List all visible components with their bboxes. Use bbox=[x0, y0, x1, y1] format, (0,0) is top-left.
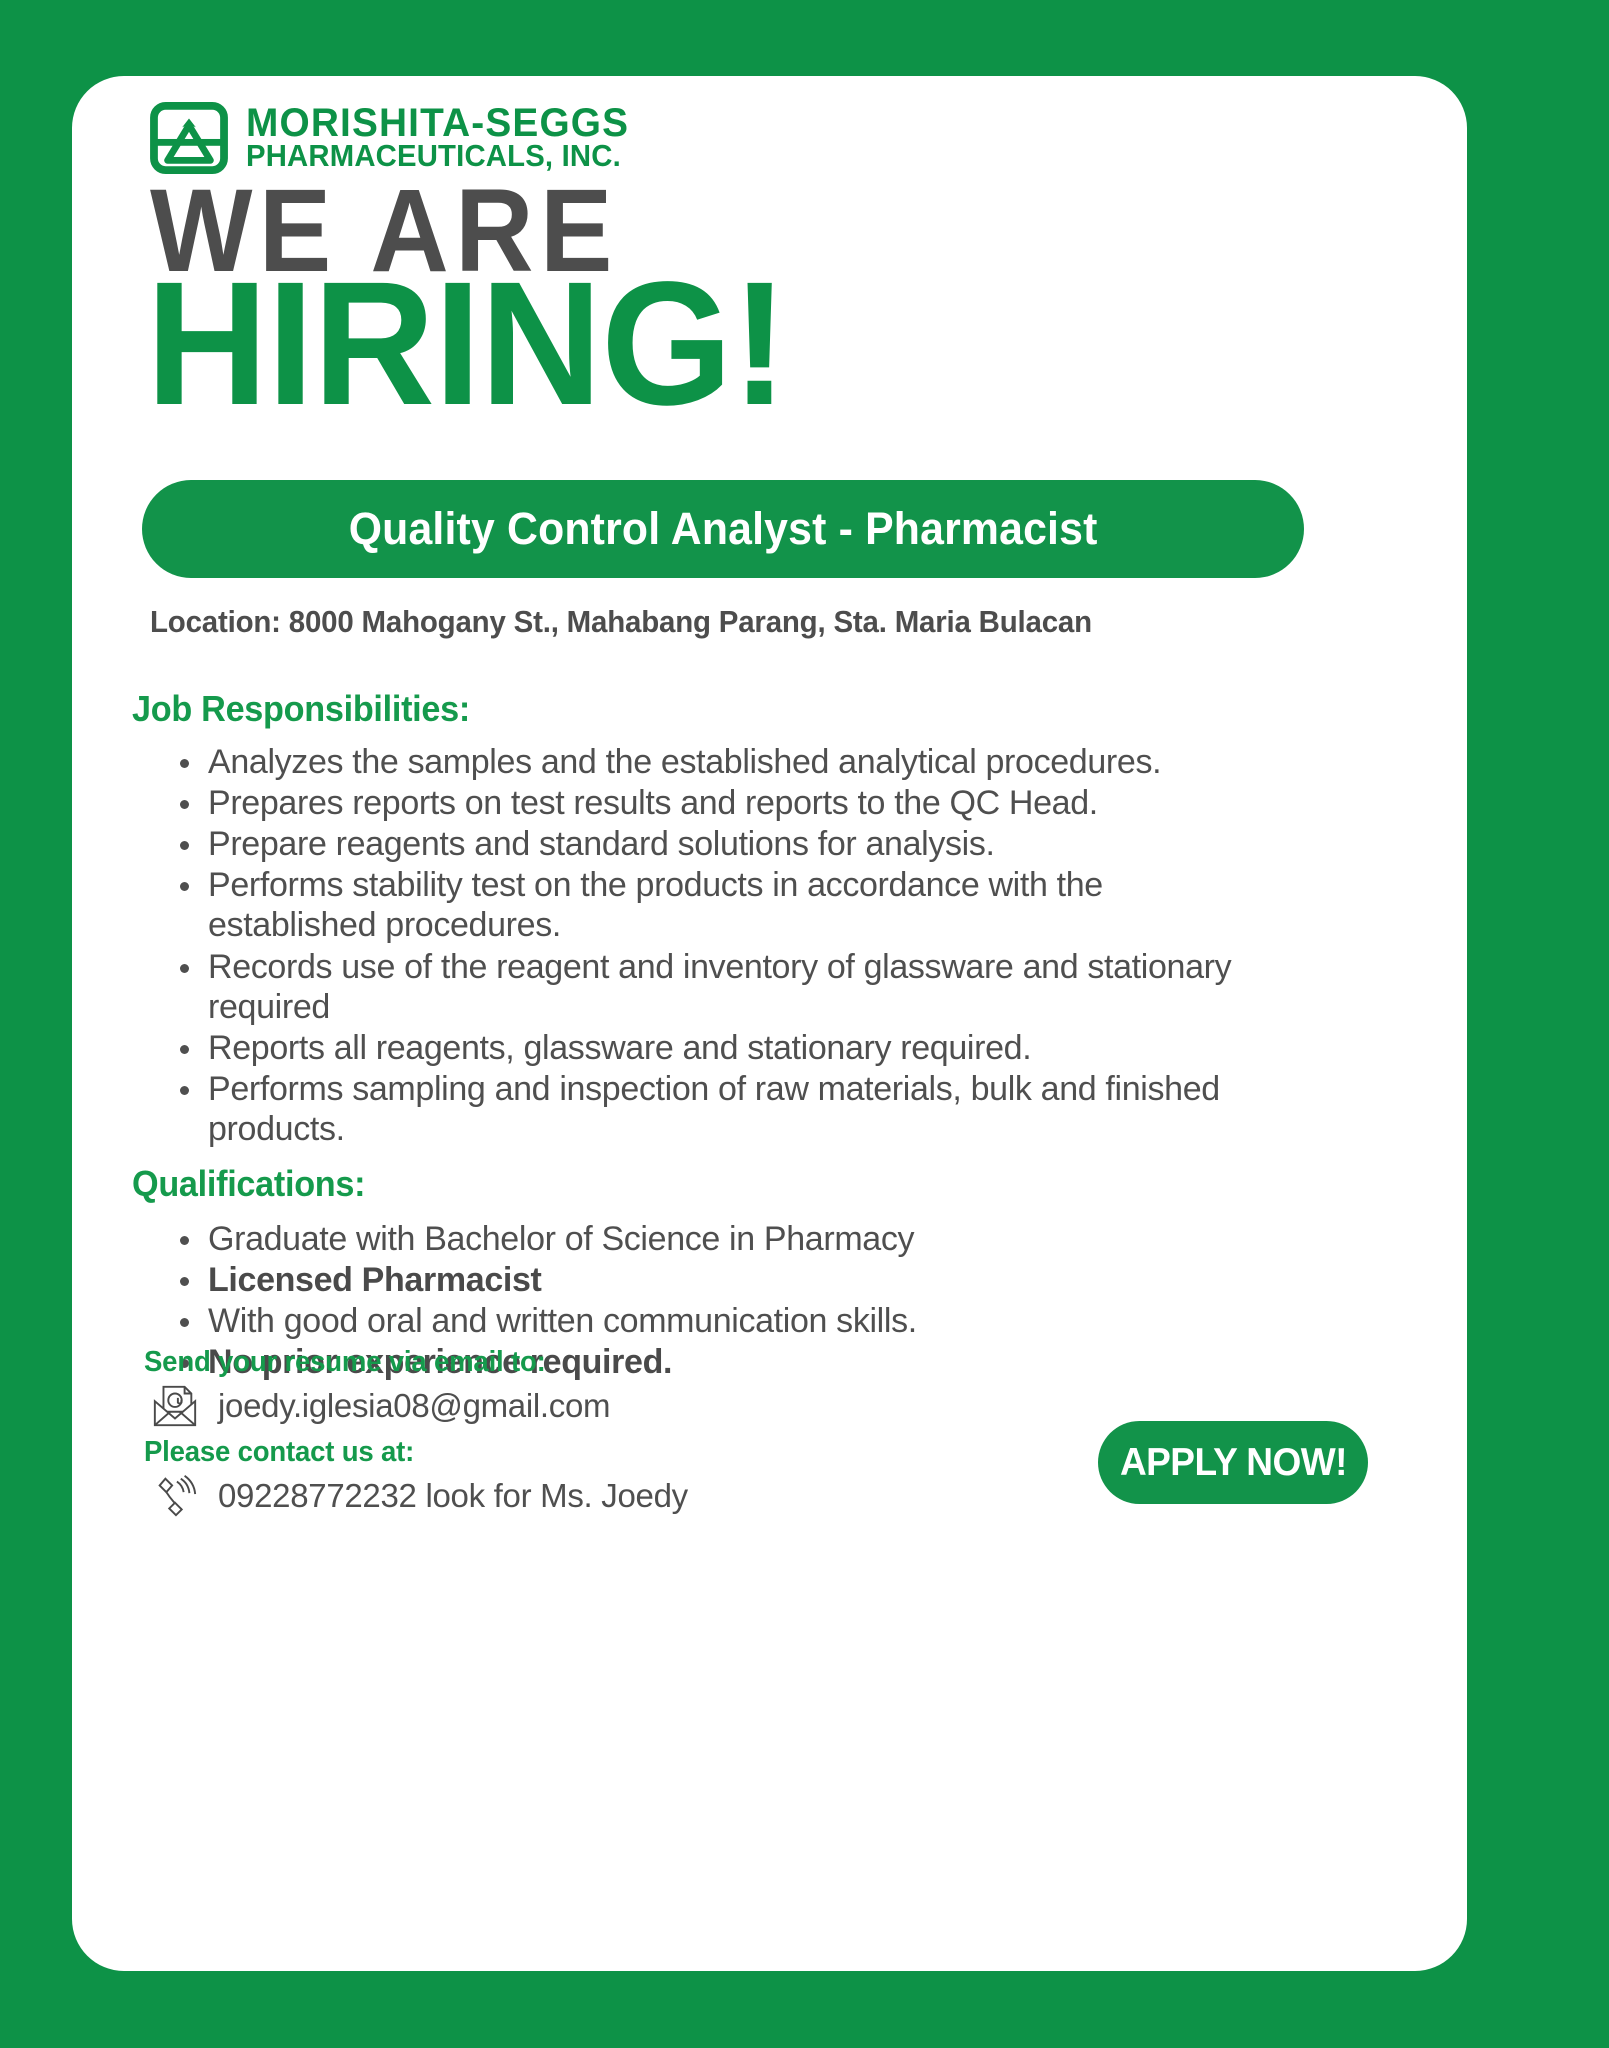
phone-number[interactable]: 09228772232 look for Ms. Joedy bbox=[218, 1477, 688, 1515]
job-title-banner: Quality Control Analyst - Pharmacist bbox=[142, 480, 1304, 578]
list-item: With good oral and written communication… bbox=[162, 1301, 1232, 1341]
list-item: Records use of the reagent and inventory… bbox=[162, 947, 1232, 1027]
list-item: Prepare reagents and standard solutions … bbox=[162, 824, 1232, 864]
email-address[interactable]: joedy.iglesia08@gmail.com bbox=[218, 1387, 610, 1425]
list-item: Reports all reagents, glassware and stat… bbox=[162, 1028, 1232, 1068]
responsibilities-heading: Job Responsibilities: bbox=[132, 688, 470, 730]
mountain-flask-logo-icon bbox=[150, 102, 228, 174]
brand-text: MORISHITA-SEGGS PHARMACEUTICALS, INC. bbox=[246, 105, 641, 171]
job-title: Quality Control Analyst - Pharmacist bbox=[349, 503, 1098, 555]
list-item: Graduate with Bachelor of Science in Pha… bbox=[162, 1219, 1232, 1259]
apply-now-button[interactable]: APPLY NOW! bbox=[1098, 1421, 1368, 1504]
list-item: Prepares reports on test results and rep… bbox=[162, 783, 1232, 823]
apply-now-label: APPLY NOW! bbox=[1120, 1441, 1347, 1485]
list-item: Licensed Pharmacist bbox=[162, 1260, 1232, 1300]
phone-contact-row[interactable]: 09228772232 look for Ms. Joedy bbox=[150, 1472, 688, 1520]
headline-hiring: HIRING! bbox=[146, 256, 787, 432]
phone-heading: Please contact us at: bbox=[144, 1436, 414, 1469]
brand-header: MORISHITA-SEGGS PHARMACEUTICALS, INC. bbox=[150, 102, 641, 174]
list-item: Performs stability test on the products … bbox=[162, 865, 1232, 945]
poster-card: MORISHITA-SEGGS PHARMACEUTICALS, INC. WE… bbox=[72, 76, 1467, 1971]
email-contact-row[interactable]: joedy.iglesia08@gmail.com bbox=[150, 1382, 610, 1430]
responsibilities-list: Analyzes the samples and the established… bbox=[162, 742, 1232, 1150]
ringing-phone-icon bbox=[150, 1472, 200, 1520]
list-item: Performs sampling and inspection of raw … bbox=[162, 1069, 1232, 1149]
envelope-at-icon bbox=[150, 1382, 200, 1430]
list-item: Analyzes the samples and the established… bbox=[162, 742, 1232, 782]
job-location: Location: 8000 Mahogany St., Mahabang Pa… bbox=[150, 604, 1092, 640]
brand-name: MORISHITA-SEGGS bbox=[246, 105, 629, 143]
qualifications-heading: Qualifications: bbox=[132, 1163, 365, 1205]
email-heading: Send your resume via email to: bbox=[144, 1346, 546, 1379]
